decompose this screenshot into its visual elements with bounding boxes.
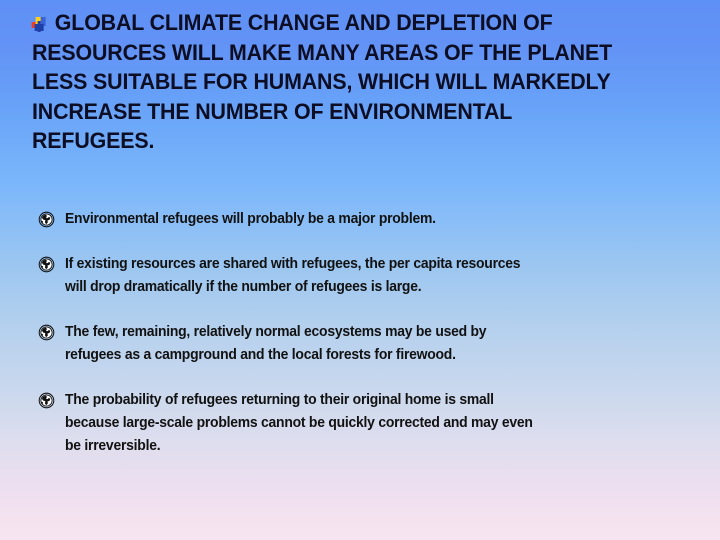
slide-body: Environmental refugees will probably be … — [38, 208, 698, 458]
bullet-text-line: The probability of refugees returning to… — [65, 389, 670, 412]
globe-icon — [38, 392, 55, 409]
title-line-5: REFUGEES. — [32, 126, 659, 156]
slide-title: GLOBAL CLIMATE CHANGE AND DEPLETION OF R… — [32, 8, 692, 156]
bullet-text-line: because large-scale problems cannot be q… — [65, 412, 670, 435]
bullet-text-line: Environmental refugees will probably be … — [65, 208, 670, 231]
globe-icon — [38, 324, 55, 341]
globe-icon — [38, 211, 55, 228]
bullet-text-line: will drop dramatically if the number of … — [65, 276, 670, 299]
bullet-text-line: be irreversible. — [65, 435, 670, 458]
title-line-1-text: GLOBAL CLIMATE CHANGE AND DEPLETION OF — [55, 10, 553, 35]
bullet-text-line: refugees as a campground and the local f… — [65, 344, 670, 367]
bullet-item: The probability of refugees returning to… — [38, 389, 698, 458]
four-color-squares-icon — [32, 16, 47, 32]
title-line-1: GLOBAL CLIMATE CHANGE AND DEPLETION OF — [32, 8, 659, 38]
bullet-text-line: If existing resources are shared with re… — [65, 253, 670, 276]
bullet-text-line: The few, remaining, relatively normal ec… — [65, 321, 670, 344]
bullet-item: Environmental refugees will probably be … — [38, 208, 698, 231]
title-line-4: INCREASE THE NUMBER OF ENVIRONMENTAL — [32, 97, 659, 127]
globe-icon — [38, 256, 55, 273]
bullet-item: The few, remaining, relatively normal ec… — [38, 321, 698, 367]
title-line-3: LESS SUITABLE FOR HUMANS, WHICH WILL MAR… — [32, 67, 659, 97]
presentation-slide: GLOBAL CLIMATE CHANGE AND DEPLETION OF R… — [0, 0, 720, 540]
bullet-item: If existing resources are shared with re… — [38, 253, 698, 299]
title-line-2: RESOURCES WILL MAKE MANY AREAS OF THE PL… — [32, 38, 659, 68]
